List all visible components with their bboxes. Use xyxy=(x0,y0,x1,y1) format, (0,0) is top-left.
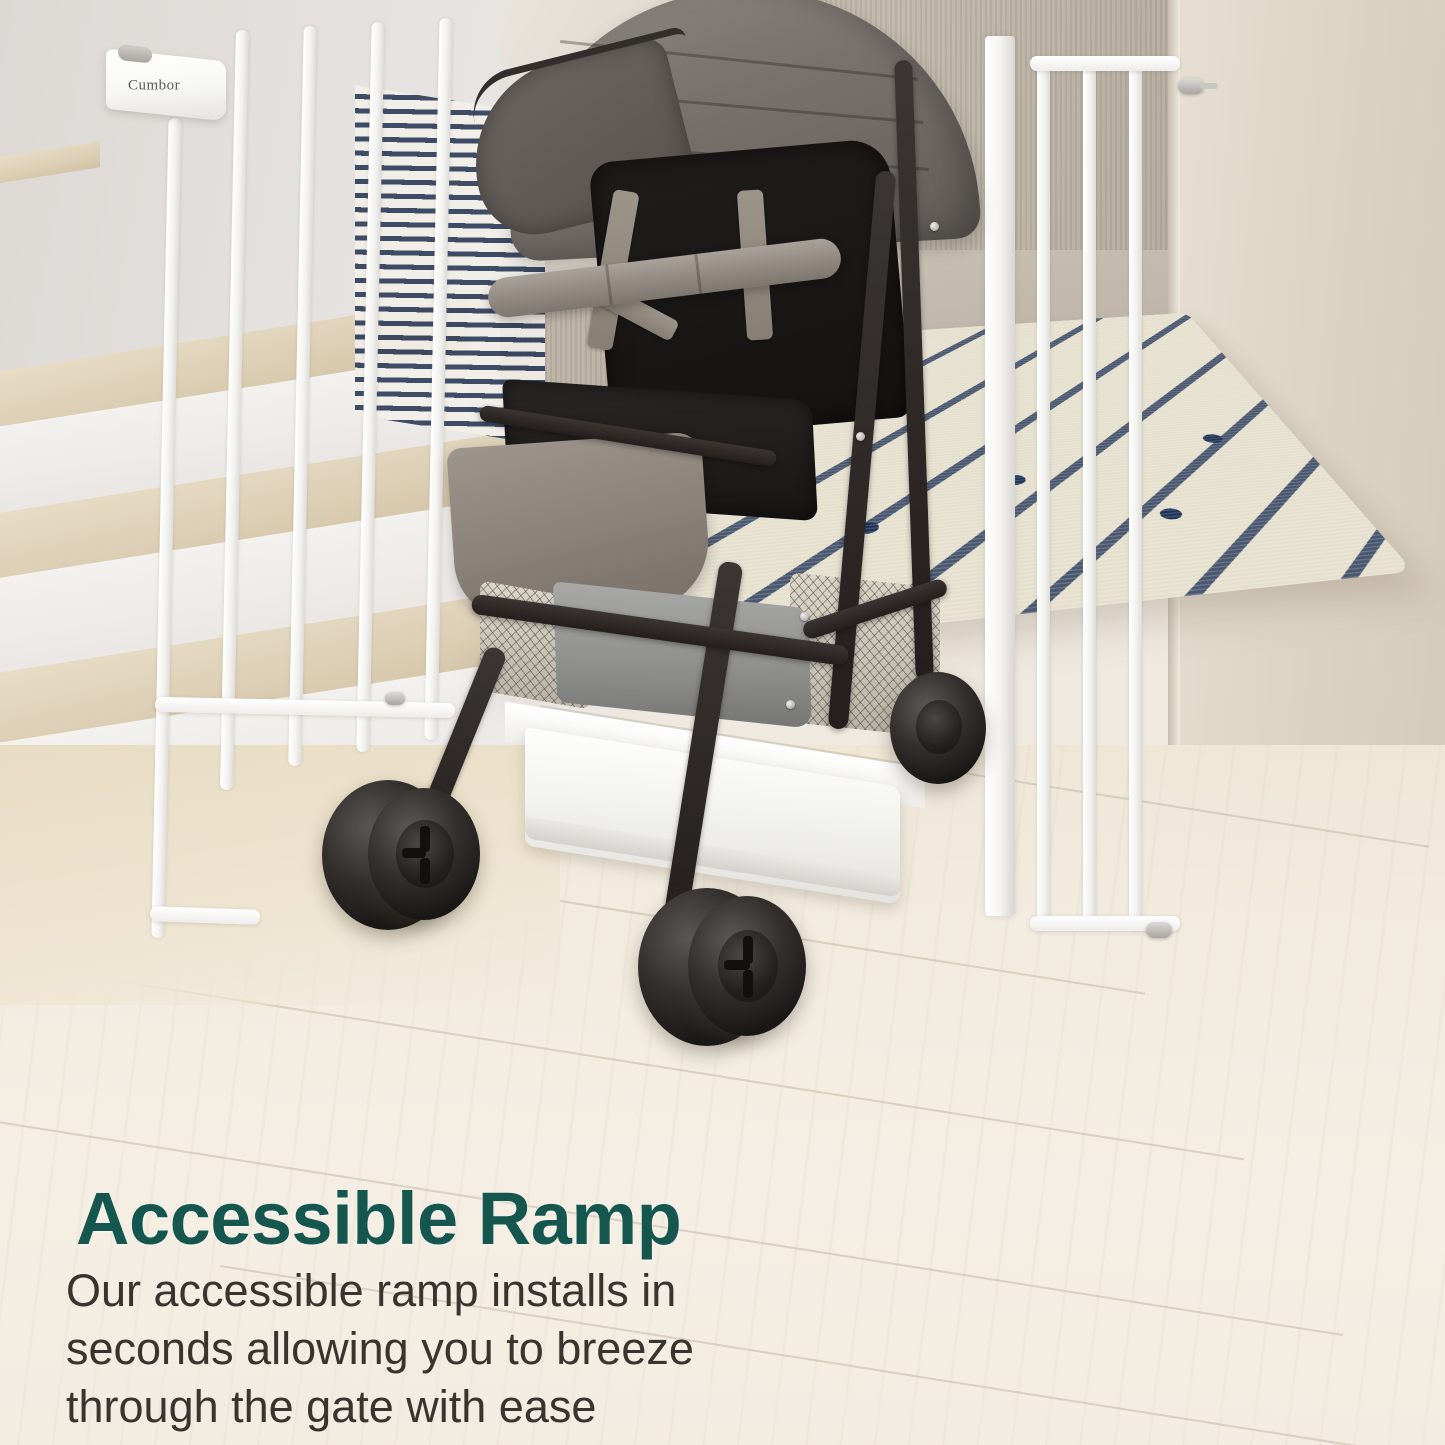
hub-spoke xyxy=(724,960,750,970)
stroller-wheel-rear-inner xyxy=(368,788,480,920)
wheel-hub xyxy=(396,820,454,888)
wall-mount-stem xyxy=(1200,83,1218,89)
hub-spoke xyxy=(743,970,753,998)
gate-latch-housing[interactable]: Cumbor xyxy=(106,49,226,122)
body-line-3: through the gate with ease xyxy=(66,1378,906,1436)
gate-hinge-bolt[interactable] xyxy=(385,692,405,705)
gate-bar xyxy=(1037,66,1050,926)
frame-rivet xyxy=(930,222,939,231)
brand-logo: Cumbor xyxy=(128,78,180,95)
product-marketing-image: Cumbor xyxy=(0,0,1445,1445)
hub-spoke xyxy=(420,858,430,884)
wheel-hub xyxy=(916,700,962,754)
frame-rivet xyxy=(856,432,865,441)
hub-spoke xyxy=(402,848,426,858)
gate-post-left xyxy=(985,36,1015,916)
handlebar-seam xyxy=(694,254,702,294)
gate-bar xyxy=(1083,66,1096,928)
page-title: Accessible Ramp xyxy=(76,1176,681,1261)
wheel-hub xyxy=(718,930,778,1002)
stroller-wheel-front-inner xyxy=(688,896,806,1036)
gate-bar xyxy=(1129,66,1142,930)
stroller-wheel-far-rear xyxy=(890,672,986,784)
latch-knob[interactable] xyxy=(118,44,152,64)
body-line-1: Our accessible ramp installs in xyxy=(66,1262,906,1320)
frame-rivet xyxy=(800,612,809,621)
handlebar-seam xyxy=(605,265,613,305)
body-copy: Our accessible ramp installs in seconds … xyxy=(66,1262,906,1436)
frame-rivet xyxy=(786,700,795,709)
wall-mount-bolt-bottom[interactable] xyxy=(1146,922,1172,938)
body-line-2: seconds allowing you to breeze xyxy=(66,1320,906,1378)
gate-top-rail xyxy=(1030,56,1180,71)
